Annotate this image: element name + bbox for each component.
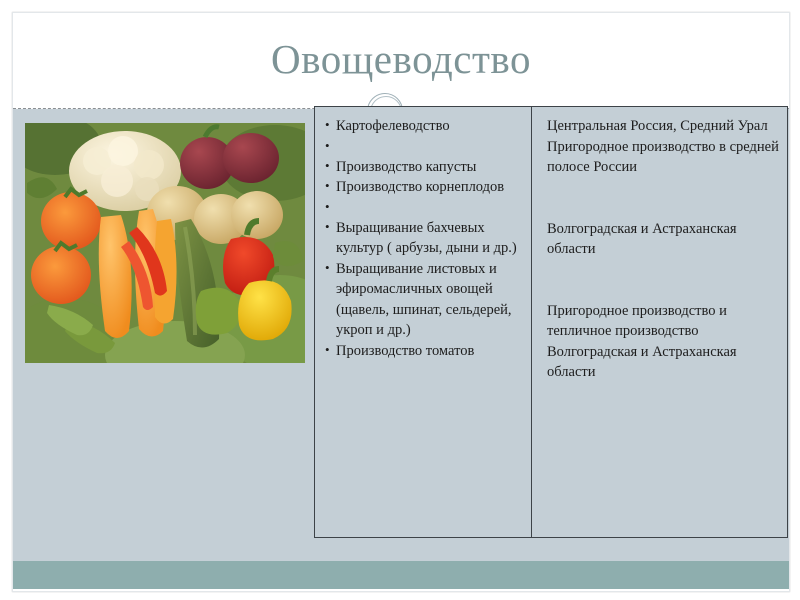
list-item: Выращивание листовых и эфиромасличных ов…: [325, 259, 523, 341]
vegetables-photo: [25, 123, 305, 363]
region-spacer: [547, 178, 779, 219]
page-title: Овощеводство: [13, 35, 789, 83]
list-item: Выращивание бахчевых культур ( арбузы, д…: [325, 218, 523, 259]
slide: Овощеводство: [12, 12, 790, 592]
region-paragraph: Пригородное производство в средней полос…: [547, 137, 779, 178]
list-item: Производство капусты: [325, 157, 523, 178]
fact-table: Картофелеводство Производство капусты Пр…: [314, 106, 788, 538]
list-spacer: [325, 198, 523, 218]
slide-footer-band: [13, 561, 789, 589]
list-spacer: [325, 137, 523, 157]
region-paragraph: Центральная Россия, Средний Урал: [547, 116, 779, 137]
crops-list: Картофелеводство Производство капусты Пр…: [325, 116, 523, 361]
region-paragraph: Волгоградская и Астраханская области: [547, 219, 779, 260]
list-item: Производство томатов: [325, 341, 523, 362]
table-column-regions: Центральная Россия, Средний Урал Пригоро…: [532, 107, 787, 537]
region-paragraph: Волгоградская и Астраханская области: [547, 342, 779, 383]
table-column-crops: Картофелеводство Производство капусты Пр…: [315, 107, 532, 537]
list-item: Производство корнеплодов: [325, 177, 523, 198]
list-item: Картофелеводство: [325, 116, 523, 137]
vegetables-photo-image: [25, 123, 305, 363]
region-spacer: [547, 260, 779, 301]
region-paragraph: Пригородное производство и тепличное про…: [547, 301, 779, 342]
